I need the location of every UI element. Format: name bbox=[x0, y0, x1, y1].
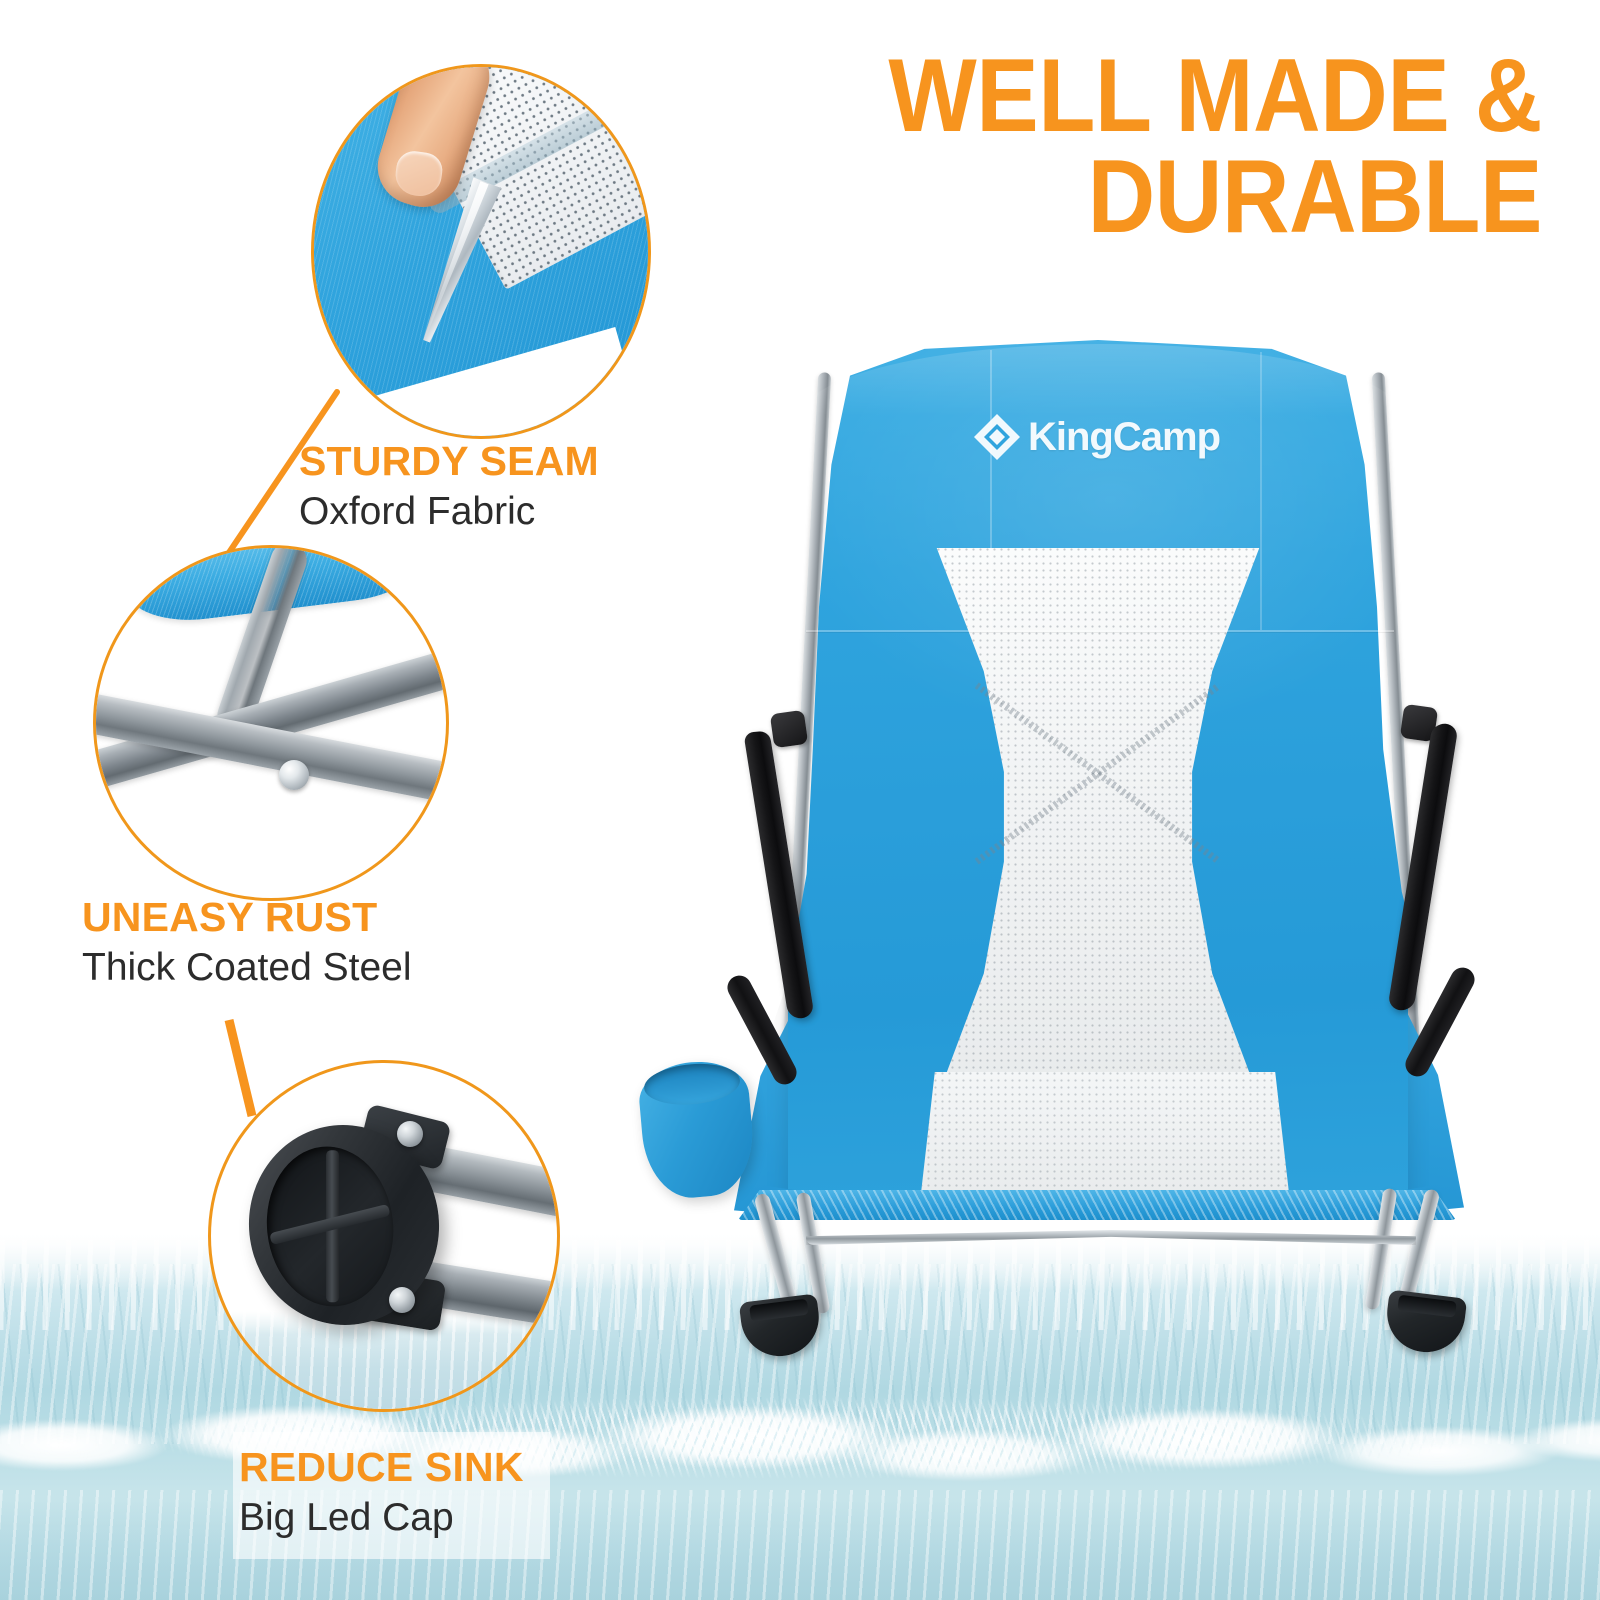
callout-subtitle: Thick Coated Steel bbox=[82, 945, 412, 991]
callout-label-uneasy-rust: UNEASY RUST Thick Coated Steel bbox=[82, 896, 412, 991]
fabric-seam-horizontal bbox=[806, 630, 1394, 632]
fingernail bbox=[393, 149, 445, 199]
headline-line-1: WELL MADE & bbox=[786, 46, 1542, 147]
brand-name: KingCamp bbox=[1028, 417, 1220, 457]
callout-title: REDUCE SINK bbox=[239, 1446, 524, 1489]
callout-title: UNEASY RUST bbox=[82, 896, 412, 939]
product-image-beach-chair: KingCamp bbox=[620, 330, 1520, 1310]
headline-line-2: DURABLE bbox=[786, 147, 1542, 248]
fabric-seam-vertical-right bbox=[1260, 352, 1262, 630]
mesh-seat-panel bbox=[920, 1072, 1290, 1202]
callout-circle-steel bbox=[93, 545, 449, 901]
fabric-top-highlight bbox=[802, 344, 1402, 416]
armrest-clip-left bbox=[770, 710, 808, 748]
bolt-icon-lower bbox=[389, 1287, 415, 1313]
callout-subtitle: Big Led Cap bbox=[239, 1495, 524, 1541]
callout-label-reduce-sink: REDUCE SINK Big Led Cap bbox=[233, 1432, 550, 1559]
callout-title: STURDY SEAM bbox=[299, 440, 599, 483]
brand-logo: KingCamp bbox=[972, 408, 1232, 466]
cup-holder-opening bbox=[642, 1060, 741, 1108]
foot-cap-cavity bbox=[259, 1140, 401, 1312]
callout-subtitle: Oxford Fabric bbox=[299, 489, 599, 535]
callout-circle-seam bbox=[311, 64, 651, 439]
cup-holder bbox=[636, 1057, 757, 1201]
chair-cross-brace bbox=[806, 1230, 1416, 1245]
seat-front-hem bbox=[738, 1190, 1456, 1220]
bolt-icon-upper bbox=[397, 1121, 423, 1147]
callout-ocean-sliver bbox=[208, 1311, 560, 1412]
fabric-seam-vertical-left bbox=[990, 350, 992, 632]
connector-cap bbox=[229, 1020, 252, 1116]
kingcamp-diamond-icon bbox=[972, 412, 1022, 462]
rivet-icon bbox=[279, 760, 309, 790]
callout-circle-cap bbox=[208, 1060, 560, 1412]
foot-cap-slot-right bbox=[1397, 1295, 1457, 1318]
infographic-canvas: WELL MADE & DURABLE bbox=[0, 0, 1600, 1600]
callout-label-sturdy-seam: STURDY SEAM Oxford Fabric bbox=[299, 440, 599, 535]
page-title: WELL MADE & DURABLE bbox=[702, 46, 1542, 248]
foot-cap-slot-left bbox=[749, 1299, 809, 1322]
